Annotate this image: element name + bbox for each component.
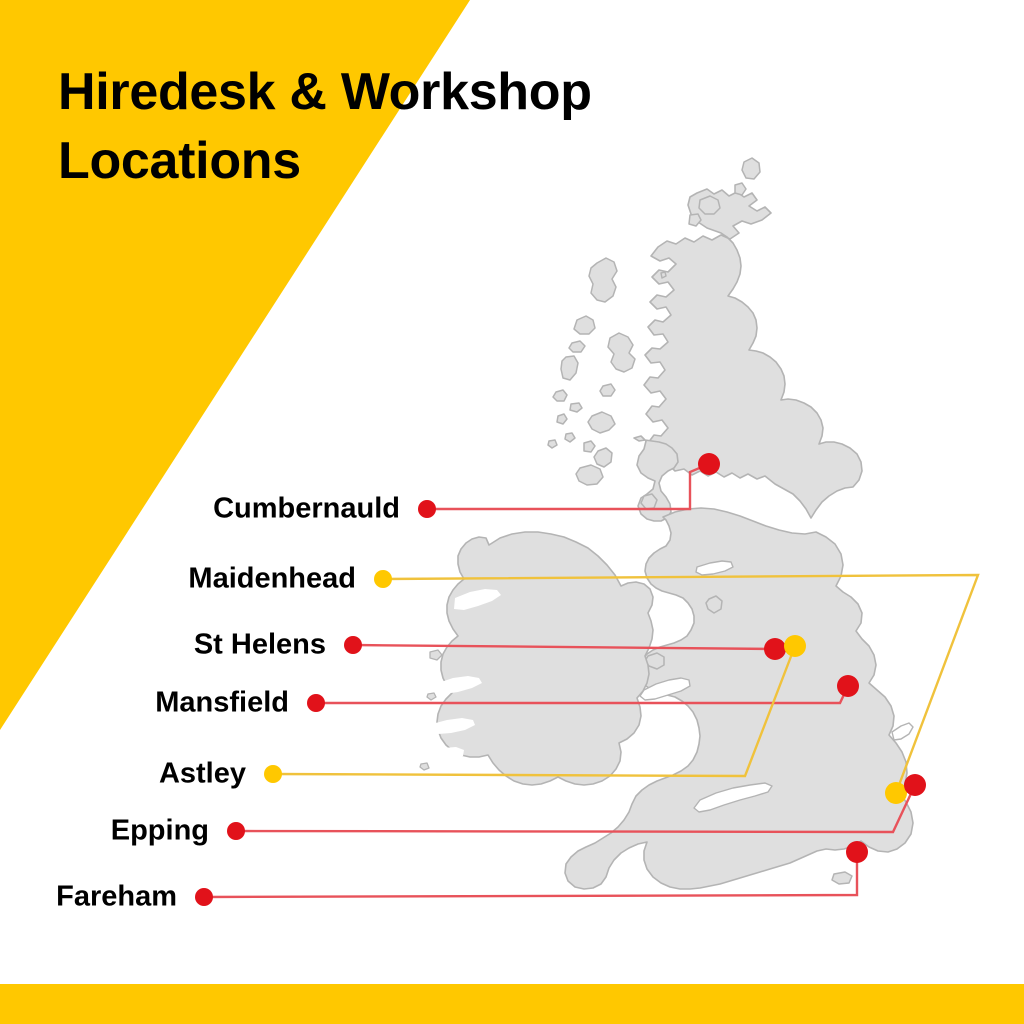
label-marker-mansfield[interactable] — [307, 694, 325, 712]
label-marker-astley[interactable] — [264, 765, 282, 783]
map-marker-mansfield[interactable] — [837, 675, 859, 697]
location-label-st-helens: St Helens — [194, 629, 326, 662]
infographic-page: Hiredesk & Workshop Locations — [0, 0, 1024, 1024]
connector-lines-layer — [0, 0, 1024, 1024]
connector-line-astley — [273, 646, 795, 776]
connector-line-cumbernauld — [427, 464, 709, 509]
connector-line-st-helens — [353, 645, 775, 649]
location-label-cumbernauld: Cumbernauld — [213, 493, 400, 526]
map-marker-maidenhead[interactable] — [885, 782, 907, 804]
connector-line-maidenhead — [383, 575, 978, 793]
label-marker-fareham[interactable] — [195, 888, 213, 906]
map-marker-st-helens[interactable] — [764, 638, 786, 660]
label-marker-maidenhead[interactable] — [374, 570, 392, 588]
label-marker-cumbernauld[interactable] — [418, 500, 436, 518]
connector-line-fareham — [204, 852, 857, 897]
map-marker-astley[interactable] — [784, 635, 806, 657]
location-label-astley: Astley — [159, 758, 246, 791]
label-marker-st-helens[interactable] — [344, 636, 362, 654]
label-marker-epping[interactable] — [227, 822, 245, 840]
bottom-accent-bar — [0, 984, 1024, 1024]
connector-line-epping — [236, 785, 915, 832]
location-label-maidenhead: Maidenhead — [188, 563, 356, 596]
location-label-mansfield: Mansfield — [155, 687, 289, 720]
map-marker-cumbernauld[interactable] — [698, 453, 720, 475]
map-marker-epping[interactable] — [904, 774, 926, 796]
connector-line-mansfield — [316, 686, 848, 703]
map-marker-fareham[interactable] — [846, 841, 868, 863]
location-label-fareham: Fareham — [56, 881, 177, 914]
location-label-epping: Epping — [111, 815, 209, 848]
